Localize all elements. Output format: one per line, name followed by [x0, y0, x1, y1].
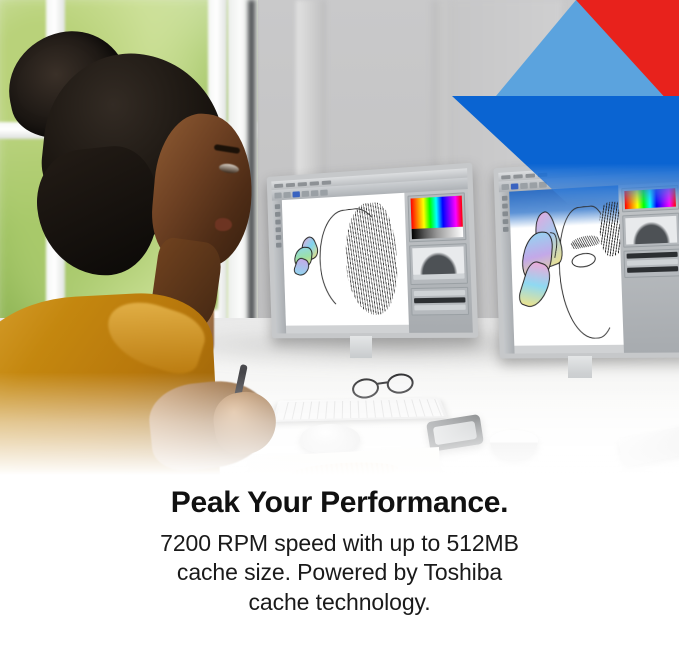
toolbar-button — [320, 189, 328, 195]
right-monitor-canvas — [509, 185, 624, 345]
menu-item — [501, 175, 510, 179]
left-monitor-canvas — [282, 193, 409, 326]
histogram-graph — [412, 246, 464, 274]
layers-panel — [411, 287, 469, 316]
subcopy-line-1: 7200 RPM speed with up to 512MB — [26, 529, 653, 559]
menu-item — [513, 174, 523, 178]
toolbar-button — [274, 192, 281, 198]
mouse — [300, 424, 360, 454]
tool-icon — [275, 220, 281, 225]
toolbar-button — [530, 182, 538, 188]
glasses-lens — [385, 372, 415, 396]
tool-icon — [501, 196, 507, 201]
lips — [215, 218, 232, 231]
left-monitor — [267, 163, 479, 339]
right-monitor-panels — [618, 182, 679, 353]
headline: Peak Your Performance. — [26, 486, 653, 520]
toolbar-button — [539, 181, 547, 187]
menu-item — [538, 172, 548, 177]
preview-panel — [622, 213, 679, 248]
tool-icon — [276, 243, 282, 248]
tool-icon — [274, 204, 280, 209]
tool-icon — [502, 227, 508, 232]
subcopy-line-3: cache technology. — [26, 588, 653, 618]
color-spectrum — [624, 188, 676, 209]
preview-thumbnail — [625, 216, 677, 245]
butterfly-illustration — [521, 216, 572, 314]
menu-item — [310, 181, 319, 186]
tool-icon — [275, 212, 281, 217]
tool-icon — [502, 211, 508, 216]
effect-row — [627, 266, 678, 273]
product-lifestyle-photo — [0, 0, 679, 492]
tool-icon — [502, 203, 508, 208]
hair-nape — [32, 142, 165, 282]
navigator-panel — [621, 185, 679, 212]
toolbar-button — [501, 183, 509, 189]
grayscale-ramp — [412, 227, 464, 239]
butterfly-illustration — [294, 239, 321, 278]
tool-icon — [275, 235, 281, 240]
toolbar-button — [302, 190, 310, 196]
marketing-copy: Peak Your Performance. 7200 RPM speed wi… — [0, 486, 679, 618]
layer-row — [414, 290, 465, 296]
tool-icon — [275, 227, 281, 232]
toolbar-button — [311, 190, 319, 196]
left-monitor-panels — [404, 189, 473, 333]
effects-panel — [623, 249, 679, 278]
artwork-large-butterfly — [509, 185, 624, 345]
color-swatch-panel — [407, 192, 466, 242]
subcopy-line-2: cache size. Powered by Toshiba — [26, 558, 653, 588]
layer-row — [414, 305, 466, 311]
glasses-lens — [351, 377, 381, 401]
toolbar-button-active — [511, 183, 519, 189]
menu-item — [286, 182, 295, 186]
right-monitor-stand — [568, 356, 592, 378]
menu-item — [274, 183, 283, 187]
toolbar-button — [283, 191, 290, 197]
left-monitor-stand — [350, 336, 372, 358]
right-monitor — [494, 156, 679, 359]
menu-item — [298, 182, 307, 186]
toolbar-button — [520, 182, 528, 188]
artwork-face-with-butterfly — [282, 193, 409, 326]
menu-item — [322, 180, 332, 185]
tool-icon — [502, 219, 508, 224]
toolbar-button-active — [292, 191, 300, 197]
color-spectrum — [411, 196, 463, 229]
effect-row — [627, 259, 678, 266]
subcopy: 7200 RPM speed with up to 512MB cache si… — [26, 529, 653, 619]
marketing-banner: Peak Your Performance. 7200 RPM speed wi… — [0, 0, 679, 658]
layer-row — [414, 297, 465, 303]
effect-row — [627, 252, 678, 259]
menu-item — [525, 173, 535, 178]
histogram-panel — [409, 243, 468, 285]
